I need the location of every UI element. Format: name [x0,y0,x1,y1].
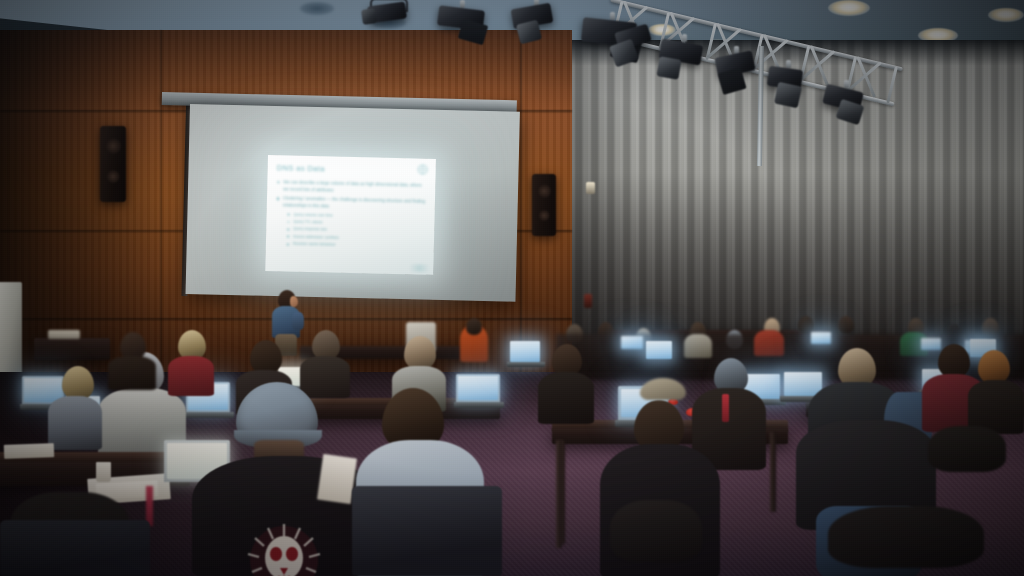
light-lens [516,20,542,45]
attendee [48,366,102,446]
slide-footer-logo [409,264,429,271]
light-clamp [844,80,849,88]
stage-light [656,36,714,84]
wall-sconce-light [586,182,595,194]
stage-light [764,62,816,114]
slide-bullet: Clustering / anomalies — the challenge i… [276,196,426,213]
attendee [968,350,1024,430]
downlight-ring [300,2,334,15]
laptop-screen [510,341,540,362]
table-items [48,330,80,339]
laptop[interactable] [644,340,674,364]
stage-light [712,48,764,98]
speaker-driver [539,210,550,221]
attendee-torso [538,372,594,424]
light-clamp [460,0,465,8]
backpack [828,506,984,568]
chair[interactable] [352,486,502,576]
lanyard [722,394,729,422]
projected-slide: DNS as Data We can describe a large volu… [265,155,436,275]
presenter-arm [292,312,304,330]
attendee-head [838,316,854,334]
paper-notes [4,443,54,459]
laptop-screen [621,336,643,349]
light-lens [774,82,802,109]
paper-cup [96,462,111,482]
speaker-driver [105,138,121,154]
stage-light [430,4,492,48]
stage-light [362,0,414,30]
attendee [108,332,156,386]
light-clamp [682,34,687,42]
light-lens [361,8,377,25]
laptop-screen [646,341,672,359]
attendee-head [938,344,970,378]
laptop[interactable] [508,340,542,368]
attendee [538,344,594,420]
tshirt-skull-graphic [230,520,338,576]
ceiling-downlight [828,0,870,16]
slide-title: DNS as Data [277,163,427,176]
slide-bullet: We can describe a large volume of data a… [276,179,426,196]
conference-room-photo: DNS as Data We can describe a large volu… [0,0,1024,576]
light-barndoor [458,19,489,45]
laptop[interactable] [810,332,832,347]
laptop[interactable] [620,336,644,352]
attendee-head [62,366,94,400]
chair[interactable] [0,520,150,576]
light-clamp [786,60,791,68]
attendee-head [250,340,282,374]
attendee-torso [754,330,784,356]
light-lens [656,56,681,80]
laptop-screen [811,332,831,344]
ceiling-downlight [988,8,1024,22]
attendee-head [466,318,482,335]
table-leg [556,440,562,548]
attendee-torso [108,356,156,390]
attendee-head [404,336,436,370]
table-leg [770,432,776,512]
stage-light [820,82,876,128]
wall-speaker-right [532,174,556,236]
flipchart-whiteboard [0,282,22,382]
wall-speaker-left [100,126,126,202]
speaker-driver [537,184,551,198]
slide-corner-logo [416,163,430,176]
speaker-driver [107,170,120,183]
attendee-torso [48,396,102,450]
wall-emergency-fitting [584,294,592,308]
stage-light [508,0,568,48]
backpack [610,500,702,562]
attendee-torso [684,334,712,358]
attendee-head [978,350,1010,384]
backpack [928,426,1006,472]
